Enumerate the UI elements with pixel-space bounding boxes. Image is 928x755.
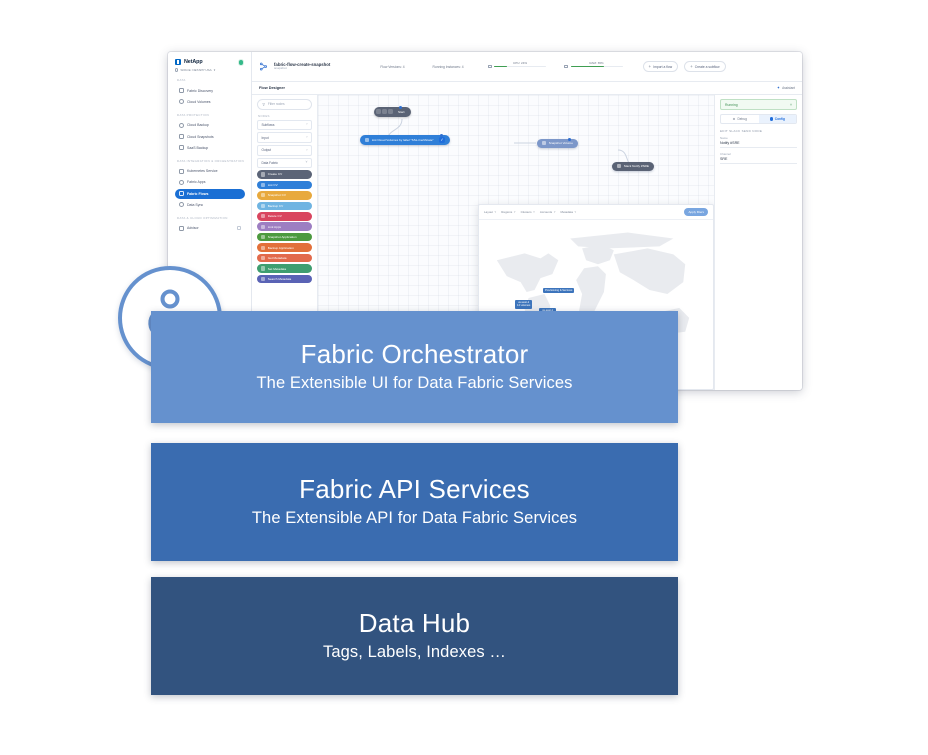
ram-icon [564, 65, 568, 68]
palette-node-snapshot-cv[interactable]: Snapshot CV [257, 191, 312, 200]
list-volume-icon [365, 138, 369, 142]
debug-icon: ⚙ [733, 117, 736, 121]
map-tag-sub: 14 volumes [517, 304, 530, 307]
palette-node-label: Link Apps [268, 225, 281, 229]
discovery-icon [179, 88, 184, 93]
palette-node-label: Snapshot CV [268, 193, 286, 197]
cpu-icon [488, 65, 492, 68]
sidebar-item-fabric-flows[interactable]: Fabric Flows [175, 189, 245, 199]
field-value-channel[interactable]: SRE [720, 157, 797, 164]
ram-meter-track: RAM: 65% [571, 66, 623, 68]
palette-node-label: Delete CV [268, 214, 282, 218]
slack-icon [617, 164, 621, 168]
ram-meter-label: RAM: 65% [589, 61, 603, 65]
chevron-right-icon: › [306, 136, 307, 139]
saas-backup-icon [179, 145, 184, 150]
flow-status-select[interactable]: Running ˅ [720, 99, 797, 110]
create-volume-icon [261, 172, 265, 176]
cloud-icon [179, 99, 184, 104]
map-filter-label: Metadata [560, 210, 573, 214]
cpu-meter-label: CPU: 24% [513, 61, 527, 65]
palette-group-label: Input [262, 136, 269, 140]
sidebar-item-cloud-snapshots[interactable]: Cloud Snapshots [175, 131, 245, 141]
advisor-icon [179, 226, 184, 231]
sidebar-item-kubernetes-service[interactable]: Kubernetes Service [175, 166, 245, 176]
ram-meter: RAM: 65% [564, 65, 623, 68]
node-port-icon [440, 134, 443, 137]
palette-node-snapshot-application[interactable]: Snapshot Application [257, 233, 312, 242]
tab-config-label: Config [775, 117, 785, 121]
palette-node-label: Search Metadata [268, 277, 292, 281]
palette-node-list-cv[interactable]: List CV [257, 181, 312, 190]
flow-title-block: fabric-flow-create-snapshot snapshot [274, 62, 330, 71]
sidebar-item-cloud-backup[interactable]: Cloud Backup [175, 120, 245, 130]
palette-node-backup-application[interactable]: Backup Application [257, 243, 312, 252]
app-header: fabric-flow-create-snapshot snapshot Flo… [252, 52, 802, 82]
band-title: Data Hub [359, 608, 470, 639]
backup-icon [179, 123, 184, 128]
map-filter-clusters[interactable]: Clusters ˅ [521, 210, 535, 214]
assistant-label: Assistant [782, 86, 795, 90]
node-toolbar[interactable]: Start [374, 107, 411, 117]
palette-node-delete-cv[interactable]: Delete CV [257, 212, 312, 221]
map-filter-metadata[interactable]: Metadata ˅ [560, 210, 576, 214]
map-filter-regions[interactable]: Regions ˅ [501, 210, 515, 214]
space-selector[interactable]: SPACE: NETAPP USA ▾ [175, 68, 245, 72]
map-filter-accounts[interactable]: Accounts ˅ [540, 210, 556, 214]
tab-flow-designer[interactable]: Flow Designer [259, 86, 285, 90]
field-value-name[interactable]: Notify #SRE [720, 141, 797, 148]
brand-row: NetApp [175, 59, 245, 65]
map-filter-label: Layout [484, 210, 493, 214]
flow-graph-icon [259, 62, 268, 71]
flow-node-label: List Cloud Volumes by label "SSL-Certifi… [372, 138, 434, 142]
flows-icon [179, 191, 184, 196]
create-subflow-label: Create a subflow [695, 65, 720, 69]
apps-icon [179, 180, 184, 185]
sidebar-item-fabric-apps[interactable]: Fabric Apps [175, 177, 245, 187]
map-toolbar: Layout ˅ Regions ˅ Clusters ˅ Accounts ˅… [479, 205, 713, 220]
map-filter-label: Accounts [540, 210, 552, 214]
sidebar-section-title: DATA PROTECTION [177, 114, 245, 118]
import-flow-button[interactable]: + Import a flow [643, 61, 679, 72]
palette-node-label: Backup Application [268, 246, 294, 250]
sidebar-item-label: Kubernetes Service [187, 169, 218, 173]
sidebar-section-title: DATA & CLOUD OPTIMIZATION [177, 217, 245, 221]
flow-node-snapshot-volume[interactable]: Snapshot Volume [537, 139, 578, 148]
palette-node-backup-cv[interactable]: Backup CV [257, 202, 312, 211]
flow-node-label: Snapshot Volume [549, 141, 573, 145]
map-tag[interactable]: Provisioning & Services [543, 288, 574, 294]
band-data-hub: Data Hub Tags, Labels, Indexes … [151, 577, 678, 695]
chevron-down-icon: ˅ [574, 210, 576, 214]
space-label: SPACE: NETAPP USA [180, 68, 211, 72]
set-metadata-icon [261, 266, 265, 270]
palette-node-link-apps[interactable]: Link Apps [257, 222, 312, 231]
filter-nodes-placeholder: Filter nodes [268, 102, 285, 106]
band-fabric-api-services: Fabric API Services The Extensible API f… [151, 443, 678, 561]
palette-node-label: Snapshot Application [268, 235, 297, 239]
check-icon: ✓ [439, 137, 445, 143]
flow-node-label: Slack Notify #SRE [624, 164, 649, 168]
sidebar-item-label: Cloud Snapshots [187, 135, 214, 139]
chevron-right-icon: › [306, 149, 307, 152]
flow-node-label: Start [398, 110, 405, 114]
palette-node-label: List CV [268, 183, 278, 187]
config-icon [770, 117, 773, 120]
chevron-down-icon: ˅ [554, 210, 556, 214]
palette-group-label: Subflows [262, 123, 275, 127]
page-subtitle: snapshot [274, 67, 330, 71]
node-port-icon [568, 138, 571, 141]
chevron-down-icon: ˅ [514, 210, 516, 214]
sidebar-item-label: SaaS Backup [187, 146, 208, 150]
backup-volume-icon [261, 204, 265, 208]
band-fabric-orchestrator: Fabric Orchestrator The Extensible UI fo… [151, 311, 678, 423]
apply-filters-button[interactable]: Apply filters [684, 208, 708, 216]
flow-node-start[interactable]: Start [394, 109, 409, 116]
inspector-panel: Running ˅ ⚙ Debug Config EDIT SLACK SEND… [714, 95, 802, 390]
move-tool-icon[interactable] [376, 109, 381, 114]
sidebar-item-data-sync[interactable]: Data Sync [175, 200, 245, 210]
palette-group-output[interactable]: Output › [257, 145, 312, 156]
snapshot-icon [179, 134, 184, 139]
sidebar-item-advisor[interactable]: Advisor [175, 223, 245, 233]
flow-node-list-cloud-volumes[interactable]: List Cloud Volumes by label "SSL-Certifi… [360, 135, 450, 145]
sidebar-section-title: DATA [177, 79, 245, 83]
chevron-down-icon: ˅ [790, 103, 792, 107]
assistant-button[interactable]: ✦ Assistant [777, 86, 795, 90]
palette-group-data-fabric[interactable]: Data Fabric ˅ [257, 158, 312, 169]
palette-node-set-metadata[interactable]: Set Metadata [257, 264, 312, 273]
link-apps-icon [261, 225, 265, 229]
palette-group-subflows[interactable]: Subflows › [257, 120, 312, 131]
tab-debug[interactable]: ⚙ Debug [721, 115, 759, 124]
palette-section-title: NODES [258, 114, 312, 118]
tab-debug-label: Debug [737, 117, 746, 121]
chevron-down-icon: ▾ [214, 68, 216, 72]
band-title: Fabric Orchestrator [301, 339, 529, 370]
kubernetes-icon [179, 169, 184, 174]
palette-node-get-metadata[interactable]: Get Metadata [257, 254, 312, 263]
search-metadata-icon [261, 277, 265, 281]
running-instances-stat: Running Instances: 4 [433, 65, 464, 69]
field-label-name: Name [720, 136, 797, 140]
sidebar-item-label: Fabric Flows [187, 192, 208, 196]
palette-node-search-metadata[interactable]: Search Metadata [257, 275, 312, 284]
palette-group-label: Output [262, 148, 272, 152]
flow-versions-stat: Flow Versions: 4 [380, 65, 404, 69]
sidebar-section-title: DATA INTEGRATION & ORCHESTRATION [177, 160, 245, 164]
chevron-down-icon: ˅ [306, 161, 308, 164]
cpu-meter-track: CPU: 24% [494, 66, 546, 68]
palette-node-label: Backup CV [268, 204, 283, 208]
tab-config[interactable]: Config [759, 115, 797, 124]
band-subtitle: The Extensible API for Data Fabric Servi… [252, 508, 577, 529]
sidebar-item-fabric-discovery[interactable]: Fabric Discovery [175, 85, 245, 95]
netapp-logo-icon [175, 59, 181, 65]
inspector-title: EDIT SLACK SEND NODE [720, 129, 797, 133]
map-tag-label: Provisioning & Services [545, 289, 572, 292]
advisor-badge [237, 226, 241, 230]
sync-icon [179, 202, 184, 207]
palette-node-label: Get Metadata [268, 256, 287, 260]
delete-volume-icon [261, 214, 265, 218]
palette-group-input[interactable]: Input › [257, 132, 312, 143]
funnel-icon [262, 103, 265, 106]
palette-group-label: Data Fabric [262, 161, 278, 165]
map-filter-layout[interactable]: Layout ˅ [484, 210, 496, 214]
chevron-down-icon: ˅ [533, 210, 535, 214]
map-filter-label: Clusters [521, 210, 532, 214]
globe-icon [175, 68, 178, 71]
snapshot-app-icon [261, 235, 265, 239]
palette-node-label: Create CV [268, 172, 282, 176]
run-tool-icon[interactable] [388, 109, 393, 114]
tabs-strip: Flow Designer ✦ Assistant [252, 82, 802, 95]
sidebar-item-label: Cloud Volumes [187, 100, 211, 104]
sidebar-item-label: Data Sync [187, 203, 203, 207]
create-subflow-button[interactable]: + Create a subflow [684, 61, 725, 72]
map-filter-label: Regions [501, 210, 512, 214]
sidebar-item-label: Advisor [187, 226, 199, 230]
flow-node-slack-notify[interactable]: Slack Notify #SRE [612, 162, 654, 171]
flow-status-value: Running [725, 103, 738, 107]
palette-node-create-cv[interactable]: Create CV [257, 170, 312, 179]
map-tag[interactable]: us-west-2 14 volumes [515, 300, 532, 309]
palette-node-label: Set Metadata [268, 267, 286, 271]
node-port-icon [399, 106, 402, 109]
sidebar-item-label: Fabric Discovery [187, 89, 213, 93]
delete-tool-icon[interactable] [382, 109, 387, 114]
chevron-down-icon: ˅ [495, 210, 497, 214]
sidebar-item-cloud-volumes[interactable]: Cloud Volumes [175, 97, 245, 107]
inspector-tabs: ⚙ Debug Config [720, 114, 797, 125]
snapshot-volume-icon [542, 141, 546, 145]
backup-app-icon [261, 246, 265, 250]
band-subtitle: Tags, Labels, Indexes … [323, 642, 506, 663]
field-label-channel: Channel [720, 152, 797, 156]
user-avatar-icon[interactable] [238, 59, 245, 66]
band-subtitle: The Extensible UI for Data Fabric Servic… [257, 373, 573, 394]
chevron-right-icon: › [306, 123, 307, 126]
band-title: Fabric API Services [299, 474, 530, 505]
brand-name: NetApp [184, 59, 203, 65]
cpu-meter: CPU: 24% [488, 65, 547, 68]
filter-nodes-input[interactable]: Filter nodes [257, 99, 312, 110]
sidebar-item-saas-backup[interactable]: SaaS Backup [175, 143, 245, 153]
list-volume-icon [261, 183, 265, 187]
sidebar-item-label: Cloud Backup [187, 123, 209, 127]
sidebar-item-label: Fabric Apps [187, 180, 205, 184]
get-metadata-icon [261, 256, 265, 260]
snapshot-volume-icon [261, 193, 265, 197]
diagram-stage: NetApp SPACE: NETAPP USA ▾ DATA Fabric D… [0, 0, 928, 755]
import-flow-label: Import a flow [653, 65, 672, 69]
